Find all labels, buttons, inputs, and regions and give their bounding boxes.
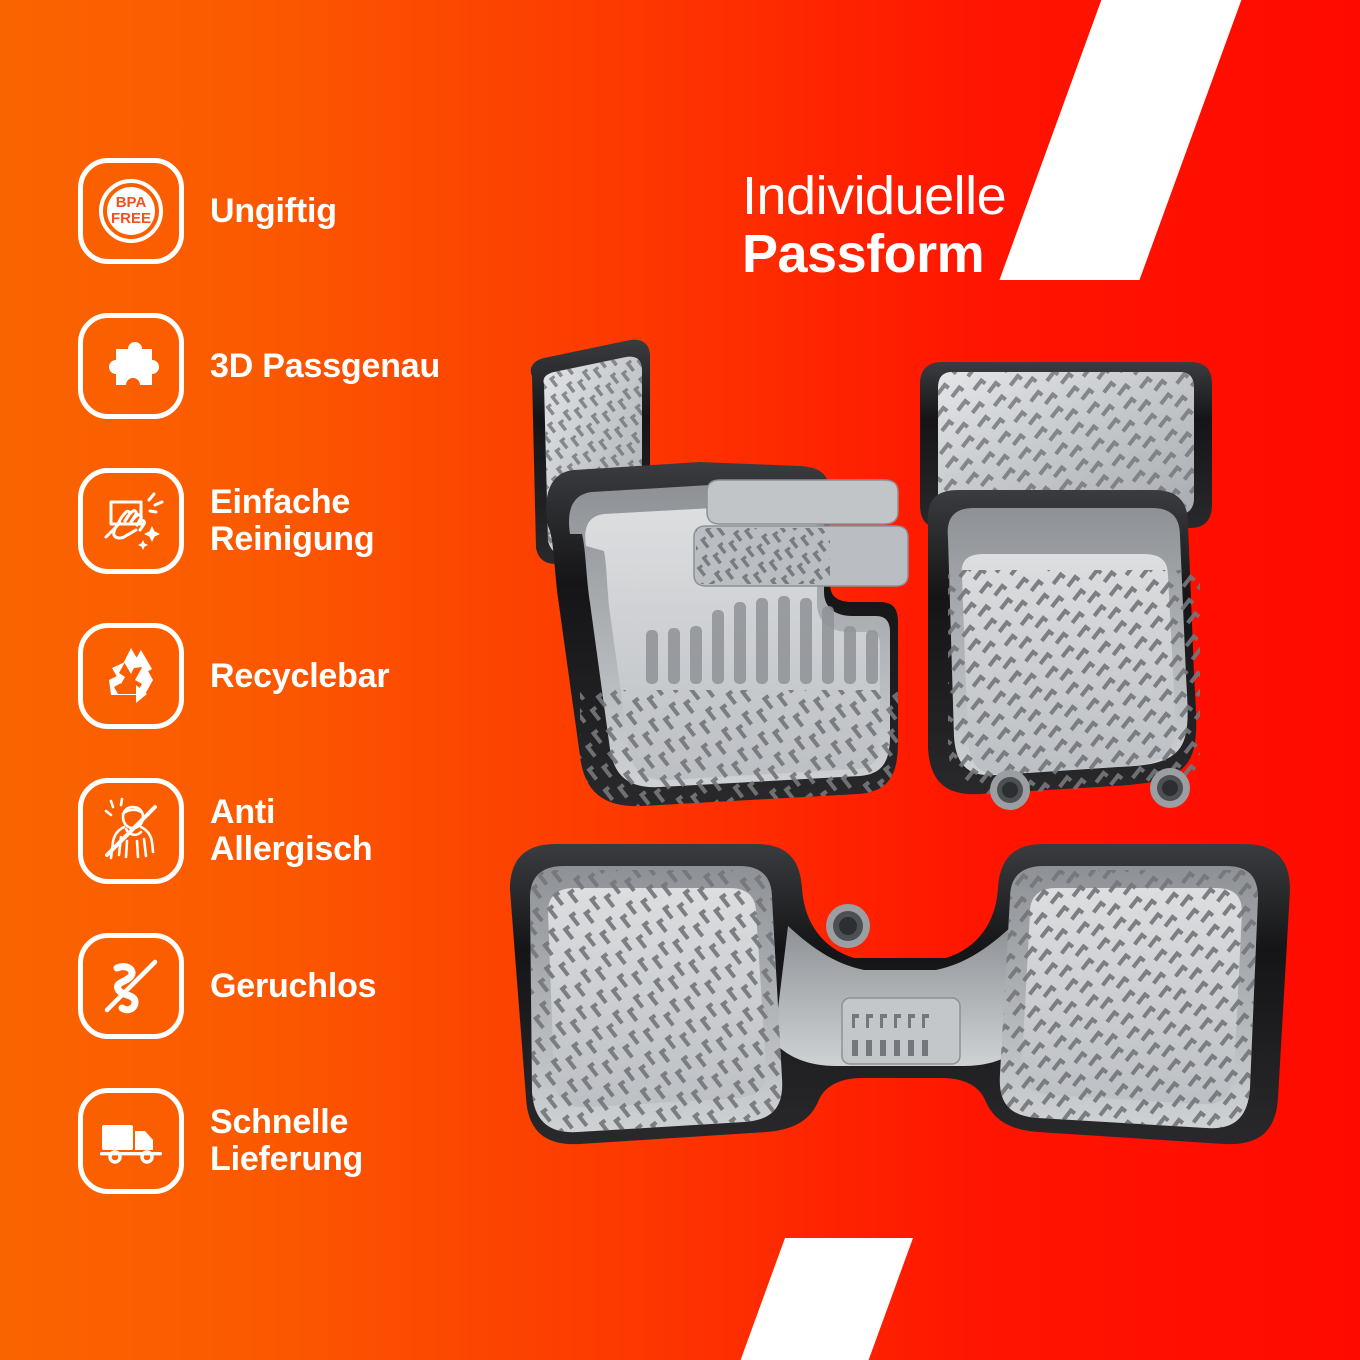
feature-label: Schnelle Lieferung [210,1104,363,1177]
feature-label: 3D Passgenau [210,348,440,385]
feature-label: Anti Allergisch [210,794,372,867]
anchor-grommet [990,770,1030,810]
anti-allergy-icon [78,778,184,884]
infographic-canvas: Individuelle Passform BPA FREE Ungiftig [0,0,1360,1360]
recycle-icon [78,623,184,729]
page-title: Individuelle Passform [742,168,1006,284]
bpa-badge-top: BPA [116,194,147,211]
anchor-grommet [826,904,870,948]
easy-cleaning-icon [78,468,184,574]
feature-label: Ungiftig [210,193,337,230]
puzzle-piece-icon [78,313,184,419]
front-right-passenger-mat [920,362,1212,830]
rear-one-piece-mat [510,844,1290,1144]
centre-tread-plate [842,998,960,1064]
feature-label: Recyclebar [210,658,389,695]
bpa-badge-bottom: FREE [111,210,151,227]
bpa-free-icon: BPA FREE [78,158,184,264]
delivery-truck-icon [78,1088,184,1194]
feature-item-ungiftig: BPA FREE Ungiftig [78,158,548,264]
diagonal-stripe-bottom [734,1238,913,1360]
headline-line-2: Passform [742,226,1006,284]
product-image-floor-mat-set [470,330,1330,1190]
no-odour-icon [78,933,184,1039]
feature-label: Einfache Reinigung [210,484,374,557]
anchor-grommet [1150,768,1190,808]
feature-label: Geruchlos [210,968,376,1005]
diagonal-stripe-top [999,0,1245,280]
headline-line-1: Individuelle [742,168,1006,226]
